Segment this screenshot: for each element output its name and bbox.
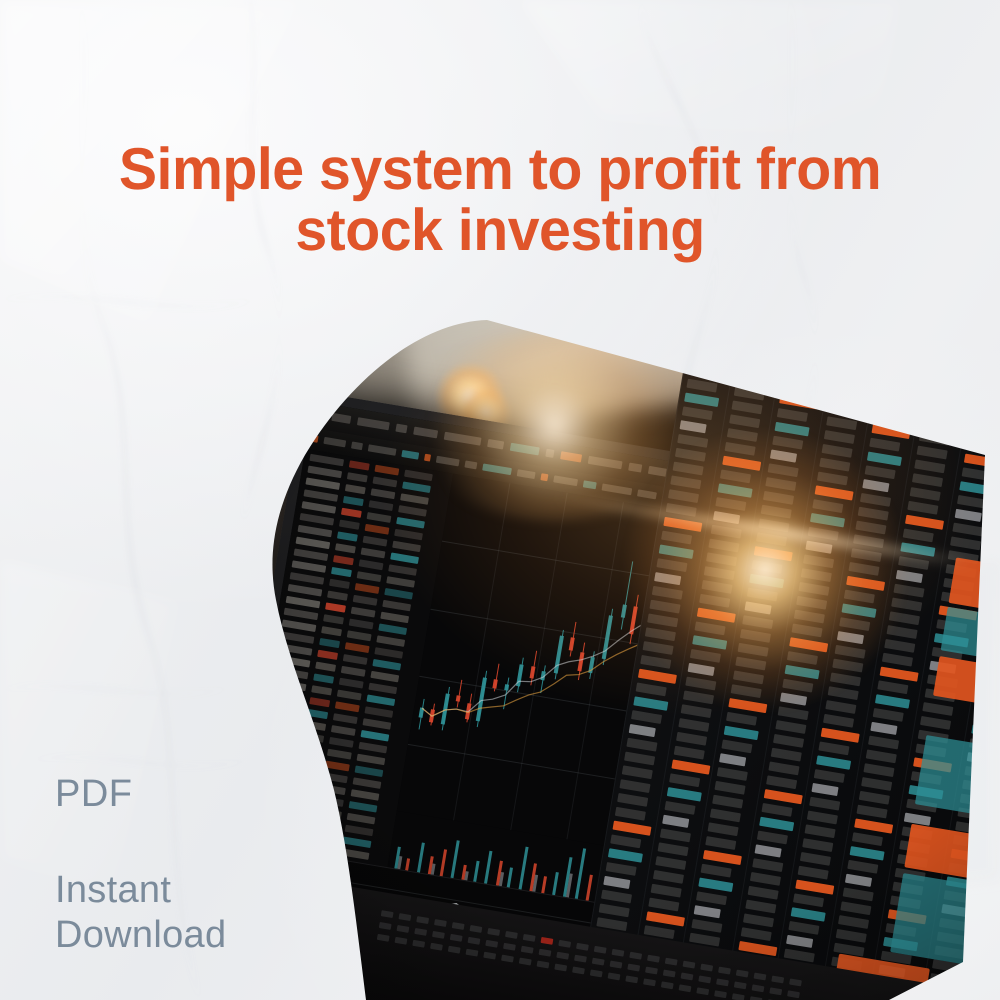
quote-cell (914, 459, 945, 473)
watchlist-cell (357, 754, 386, 766)
quote-cell (810, 513, 845, 527)
keyboard-key (452, 922, 465, 930)
watchlist-cell (355, 766, 384, 778)
keyboard-key (483, 952, 496, 960)
quote-cell (718, 483, 753, 497)
quote-cell (836, 929, 867, 943)
quote-cell (825, 700, 856, 714)
quote-cell (862, 479, 889, 492)
quote-cell (907, 501, 938, 515)
keyboard-key (397, 925, 410, 933)
watchlist-cell (341, 666, 366, 677)
quote-cell (633, 696, 668, 710)
watchlist-cell (307, 466, 342, 479)
keyboard-key (629, 952, 642, 960)
quote-cell (803, 554, 834, 568)
keyboard-key (379, 922, 392, 930)
quote-cell (917, 446, 948, 460)
keyboard-key (434, 919, 447, 927)
keyboard-key (787, 990, 800, 998)
quote-cell (671, 759, 710, 774)
watchlist-cell (323, 614, 344, 624)
volume-bar (450, 840, 459, 879)
delivery-label-line-1: Instant (55, 868, 226, 913)
watchlist-cell (404, 470, 433, 482)
watchlist-cell (369, 500, 394, 511)
quote-cell (731, 684, 762, 698)
quote-cell (824, 430, 855, 444)
quote-cell (699, 594, 730, 608)
quote-cell (877, 680, 908, 694)
keyboard-key (523, 934, 536, 942)
keyboard-key (432, 931, 445, 939)
quote-cell (668, 489, 699, 503)
volume-bar (507, 868, 513, 889)
quote-cell (626, 738, 657, 752)
watchlist-cell (311, 685, 332, 695)
watchlist-cell (292, 560, 327, 573)
quote-cell (712, 795, 743, 809)
quote-cell (880, 667, 919, 682)
quote-cell (670, 475, 701, 489)
watchlist-cell (288, 584, 323, 597)
quote-cell (893, 584, 924, 598)
keyboard-key (714, 990, 727, 998)
keyboard-key (381, 910, 394, 918)
watchlist-cell (284, 608, 319, 621)
quote-cell (761, 505, 792, 519)
quote-cell (808, 527, 839, 541)
quote-cell (764, 789, 803, 804)
quote-cell (629, 724, 656, 737)
quote-cell (839, 617, 870, 631)
quote-cell (794, 610, 825, 624)
subtoolbar-chip (540, 473, 548, 481)
quote-cell (816, 755, 851, 769)
keyboard-key (732, 993, 745, 1000)
quote-cell (818, 741, 849, 755)
watchlist-cell (402, 481, 431, 493)
watchlist-cell (349, 460, 370, 470)
subtoolbar-chip (517, 469, 536, 479)
quote-cell (814, 769, 845, 783)
keyboard-key (716, 978, 729, 986)
keyboard-key (519, 958, 532, 966)
keyboard-key (501, 955, 514, 963)
quote-cell (843, 887, 874, 901)
quote-cell (731, 400, 762, 414)
quote-cell (720, 470, 751, 484)
keyboard-key (377, 934, 390, 942)
watchlist-cell (378, 623, 407, 635)
keyboard-key (608, 972, 621, 980)
watchlist-cell (380, 612, 409, 624)
quote-cell (837, 631, 864, 644)
quote-cell (745, 601, 772, 614)
quote-cell (741, 927, 772, 941)
quote-cell (800, 852, 831, 866)
quote-cell (830, 672, 861, 686)
quote-cell (823, 714, 854, 728)
watchlist-cell (345, 825, 374, 837)
watchlist-cell (373, 477, 398, 488)
quote-cell (696, 891, 727, 905)
quote-cell (850, 846, 885, 860)
keyboard-key (521, 946, 534, 954)
quote-cell (903, 528, 934, 542)
toolbar-chip (413, 427, 438, 439)
watchlist-cell (333, 713, 358, 724)
watchlist-cell (303, 489, 338, 502)
watchlist-cell (296, 537, 331, 550)
quote-cell (704, 566, 735, 580)
volume-bar (552, 872, 559, 896)
quote-cell (692, 635, 727, 649)
watchlist-cell (390, 552, 419, 564)
quote-cell (798, 866, 829, 880)
volume-bar (439, 849, 447, 877)
watchlist-cell (392, 541, 421, 553)
quote-cell (684, 393, 719, 407)
quote-cell (701, 864, 732, 878)
quote-cell (777, 408, 808, 422)
quote-cell (789, 637, 828, 652)
quote-cell (950, 536, 981, 550)
quote-cell (697, 608, 736, 623)
quote-cell (608, 848, 643, 862)
quote-cell (667, 787, 702, 801)
keyboard-key (448, 946, 461, 954)
quote-cell (674, 746, 705, 760)
toolbar-chip (628, 463, 642, 473)
quote-cell (728, 698, 767, 713)
quote-cell (821, 728, 860, 743)
keyboard-key (627, 964, 640, 972)
keyboard-key (789, 978, 802, 986)
watchlist-cell (365, 524, 390, 535)
quote-cell (768, 463, 799, 477)
quote-cell (905, 515, 944, 530)
quote-cell (884, 639, 915, 653)
page-title: Simple system to profit from stock inves… (15, 140, 985, 259)
quote-cell (819, 458, 850, 472)
quote-cell (853, 534, 884, 548)
watchlist-cell (339, 520, 360, 530)
toolbar-chip (487, 439, 504, 450)
quote-cell (822, 444, 853, 458)
quote-cell (842, 603, 877, 617)
quote-cell (652, 586, 683, 600)
keyboard-key (754, 973, 767, 981)
watchlist-cell (321, 626, 342, 636)
keyboard-key (412, 940, 425, 948)
keyboard-key (537, 961, 550, 969)
quote-cell (778, 706, 809, 720)
quote-cell (622, 765, 653, 779)
keyboard-key (647, 955, 660, 963)
subtoolbar-chip (602, 483, 633, 495)
watchlist-cell (347, 630, 372, 641)
watchlist-cell (294, 548, 329, 561)
keyboard-key (736, 970, 749, 978)
subtoolbar-chip (401, 450, 419, 460)
quote-cell (690, 649, 721, 663)
quote-cell (838, 915, 869, 929)
quote-cell (619, 779, 650, 793)
quote-cell (713, 511, 740, 524)
watchlist-cell (349, 619, 374, 630)
quote-cell (726, 712, 757, 726)
watchlist-cell (339, 678, 364, 689)
quote-cell (798, 582, 829, 596)
quote-cell (719, 753, 746, 766)
quote-cell (855, 521, 886, 535)
watchlist-cell (337, 690, 362, 701)
volume-bar (575, 848, 587, 900)
quote-cell (733, 670, 764, 684)
quote-cell (646, 911, 685, 926)
watchlist-cell (400, 493, 429, 505)
quote-cell (680, 420, 707, 433)
quote-cell (889, 611, 920, 625)
keyboard-key (503, 943, 516, 951)
watchlist-cell (364, 706, 393, 718)
keyboard-key (554, 964, 567, 972)
watchlist-cell (355, 583, 380, 594)
quote-cell (770, 449, 797, 462)
delivery-label-line-2: Download (55, 913, 226, 958)
quote-cell (845, 874, 872, 887)
quote-cell (882, 653, 913, 667)
quote-cell (751, 560, 782, 574)
quote-cell (698, 878, 733, 892)
watchlist-cell (386, 576, 415, 588)
quote-cell (636, 683, 667, 697)
keyboard-key (769, 987, 782, 995)
watchlist-cell (359, 742, 388, 754)
volume-bar (484, 851, 493, 885)
quote-cell (725, 442, 756, 456)
quote-cell (678, 718, 709, 732)
quote-cell (653, 870, 684, 884)
keyboard-key (681, 973, 694, 981)
quote-cell (663, 517, 702, 532)
quote-cell (898, 556, 929, 570)
quote-cell (601, 890, 632, 904)
watchlist-cell (327, 591, 348, 601)
toolbar-chip (588, 456, 623, 470)
quote-cell (817, 472, 848, 486)
quote-cell (711, 525, 742, 539)
quote-cell (754, 546, 793, 561)
quote-cell (835, 645, 866, 659)
quote-cell (685, 677, 716, 691)
watchlist-cell (319, 638, 340, 648)
volume-bar (417, 842, 425, 873)
quote-cell (752, 858, 783, 872)
quote-cell (662, 815, 689, 828)
quote-cell (755, 844, 782, 857)
watchlist-cell (394, 529, 423, 541)
keyboard-key (572, 967, 585, 975)
watchlist-cell (343, 496, 364, 506)
quote-cell (863, 763, 894, 777)
quote-cell (643, 641, 674, 655)
watchlist-cell (366, 695, 395, 707)
quote-cell (955, 509, 982, 522)
quote-cell (756, 532, 787, 546)
quote-cell (858, 507, 889, 521)
subtoolbar-chip (424, 454, 431, 462)
quote-cell (759, 817, 794, 831)
quote-cell (856, 805, 887, 819)
keyboard-key (661, 981, 674, 989)
poster-canvas: Simple system to profit from stock inves… (0, 0, 1000, 1000)
watchlist-cell (367, 512, 392, 523)
quote-cell (706, 552, 737, 566)
watchlist-cell (327, 749, 352, 760)
volume-bar (518, 847, 528, 891)
quote-cell (787, 651, 818, 665)
subtoolbar-chip (323, 437, 346, 448)
quote-cell (638, 669, 677, 684)
quote-cell (664, 801, 695, 815)
watchlist-cell (335, 701, 360, 712)
quote-cell (631, 710, 662, 724)
keyboard-key (505, 931, 518, 939)
quote-cell (658, 842, 689, 856)
keyboard-key (718, 967, 731, 975)
subtoolbar-chip (482, 463, 512, 475)
quote-cell (785, 665, 820, 679)
quote-cell (676, 732, 707, 746)
keyboard-key (592, 958, 605, 966)
quote-cell (654, 572, 681, 585)
volume-bar (541, 876, 547, 894)
quote-cell (782, 679, 813, 693)
quote-cell (673, 462, 704, 476)
keyboard-key (696, 987, 709, 995)
quote-cell (648, 898, 679, 912)
keyboard-key (487, 928, 500, 936)
quote-cell (852, 832, 883, 846)
quote-cell (854, 818, 893, 833)
keyboard-key (734, 981, 747, 989)
watchlist-cell (388, 564, 417, 576)
quote-cell (691, 919, 722, 933)
quote-cell (848, 562, 879, 576)
quote-cell (780, 692, 807, 705)
keyboard-key (558, 940, 571, 948)
watchlist-cell (331, 567, 352, 577)
quote-cell (870, 722, 897, 735)
watchlist-cell (282, 619, 317, 632)
subtoolbar-chip (464, 460, 477, 469)
keyboard-key (700, 964, 713, 972)
volume-bar (585, 875, 592, 902)
keyboard-key (470, 925, 483, 933)
quote-cell (606, 862, 637, 876)
watchlist-cell (374, 465, 399, 476)
watchlist-cell (335, 543, 356, 553)
keyboard-key (466, 949, 479, 957)
quote-cell (846, 576, 885, 591)
watchlist-cell (353, 595, 378, 606)
keyboard-key (752, 984, 765, 992)
quote-cell (765, 477, 796, 491)
subtoolbar-chip (583, 480, 597, 489)
watchlist-cell (353, 777, 382, 789)
quote-cell (703, 850, 742, 865)
quote-cell (807, 811, 838, 825)
watchlist-cell (331, 725, 356, 736)
quote-cell (761, 803, 792, 817)
quote-cell (610, 834, 641, 848)
watchlist-cell (349, 801, 378, 813)
subtoolbar-chip (368, 444, 397, 456)
quote-cell (660, 829, 691, 843)
quote-cell (722, 456, 761, 471)
keyboard-key (414, 928, 427, 936)
quote-cell (615, 807, 646, 821)
toolbar-chip (545, 449, 554, 458)
watchlist-cell (301, 501, 336, 514)
keyboard-key (485, 940, 498, 948)
watchlist-cell (372, 659, 401, 671)
quote-cell (766, 775, 797, 789)
quote-cell (832, 659, 863, 673)
toolbar-chip (444, 432, 482, 446)
watchlist-cell (343, 654, 368, 665)
keyboard-key (663, 970, 676, 978)
quote-cell (745, 900, 776, 914)
quote-cell (861, 777, 892, 791)
keyboard-key (698, 975, 711, 983)
quote-cell (805, 824, 836, 838)
keyboard-key (771, 976, 784, 984)
watchlist-cell (398, 505, 427, 517)
quote-cell (811, 783, 838, 796)
subtoolbar-chip (351, 441, 363, 450)
watchlist-cell (357, 571, 382, 582)
watchlist-cell (382, 600, 411, 612)
quote-cell (859, 791, 890, 805)
quote-cell (715, 497, 746, 511)
toolbar-chip (331, 413, 351, 424)
watchlist-cell (299, 513, 334, 526)
quote-cell (771, 748, 802, 762)
watchlist-cell (374, 647, 403, 659)
watchlist-cell (333, 555, 354, 565)
quote-cell (788, 921, 819, 935)
quote-cell (851, 548, 882, 562)
watchlist-cell (345, 642, 370, 653)
quote-cell (624, 752, 655, 766)
watchlist-cell (329, 737, 354, 748)
keyboard-key (590, 969, 603, 977)
quote-cell (802, 838, 833, 852)
watchlist-cell (376, 635, 405, 647)
keyboard-key (468, 937, 481, 945)
quote-cell (656, 558, 687, 572)
quote-cell (655, 856, 686, 870)
quote-cell (640, 655, 671, 669)
watchlist-cell (309, 697, 330, 707)
watchlist-cell (298, 525, 333, 538)
quote-cell (710, 808, 741, 822)
subtoolbar-chip (637, 489, 657, 499)
quote-cell (763, 491, 794, 505)
